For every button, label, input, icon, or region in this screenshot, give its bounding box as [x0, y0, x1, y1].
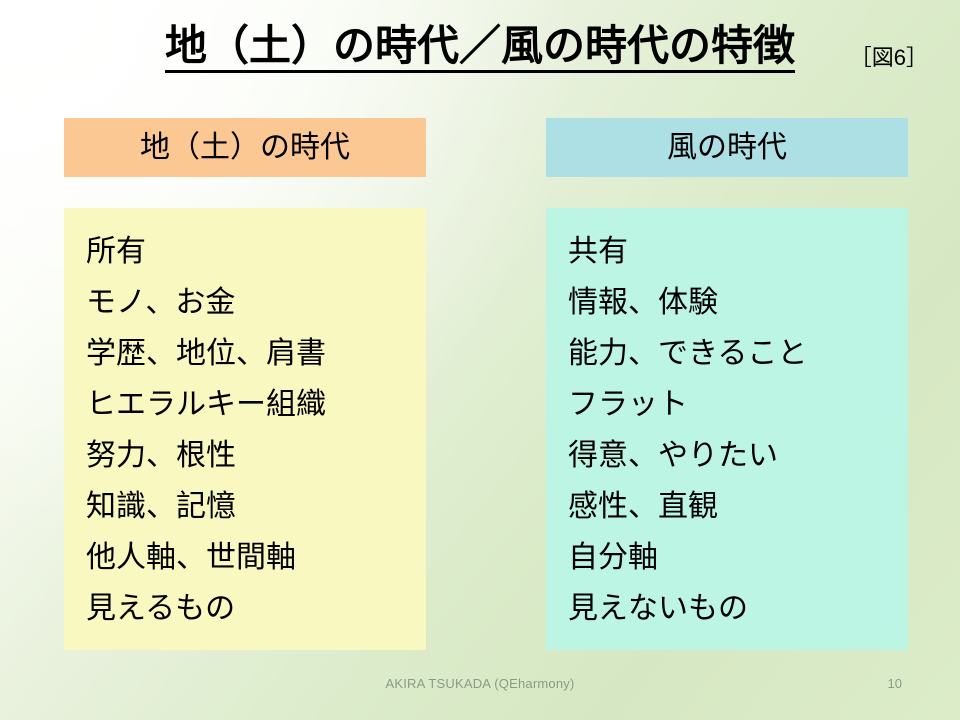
- figure-label: ［図6］: [850, 40, 928, 72]
- column-earth-era: 地（土）の時代 所有 モノ、お金 学歴、地位、肩書 ヒエラルキー組織 努力、根性…: [64, 118, 426, 650]
- item-list-earth-era: 所有 モノ、お金 学歴、地位、肩書 ヒエラルキー組織 努力、根性 知識、記憶 他…: [86, 226, 426, 634]
- list-item: 感性、直観: [568, 481, 908, 532]
- column-header-wind-era: 風の時代: [546, 118, 908, 177]
- column-body-wind-era: 共有 情報、体験 能力、できること フラット 得意、やりたい 感性、直観 自分軸…: [546, 208, 908, 650]
- list-item: ヒエラルキー組織: [86, 379, 426, 430]
- column-wind-era: 風の時代 共有 情報、体験 能力、できること フラット 得意、やりたい 感性、直…: [546, 118, 908, 650]
- list-item: 共有: [568, 226, 908, 277]
- page-title: 地（土）の時代／風の時代の特徴: [165, 24, 795, 73]
- list-item: 情報、体験: [568, 277, 908, 328]
- column-body-earth-era: 所有 モノ、お金 学歴、地位、肩書 ヒエラルキー組織 努力、根性 知識、記憶 他…: [64, 208, 426, 650]
- slide-canvas: 地（土）の時代／風の時代の特徴 ［図6］ 地（土）の時代 所有 モノ、お金 学歴…: [0, 0, 960, 720]
- list-item: 学歴、地位、肩書: [86, 328, 426, 379]
- column-header-earth-era: 地（土）の時代: [64, 118, 426, 177]
- list-item: 見えるもの: [86, 583, 426, 634]
- list-item: 見えないもの: [568, 583, 908, 634]
- list-item: 他人軸、世間軸: [86, 532, 426, 583]
- item-list-wind-era: 共有 情報、体験 能力、できること フラット 得意、やりたい 感性、直観 自分軸…: [568, 226, 908, 634]
- list-item: フラット: [568, 379, 908, 430]
- list-item: 自分軸: [568, 532, 908, 583]
- list-item: 能力、できること: [568, 328, 908, 379]
- list-item: 知識、記憶: [86, 481, 426, 532]
- footer-credit: AKIRA TSUKADA (QEharmony): [0, 676, 960, 691]
- list-item: 得意、やりたい: [568, 430, 908, 481]
- page-number: 10: [888, 676, 902, 691]
- list-item: 所有: [86, 226, 426, 277]
- list-item: モノ、お金: [86, 277, 426, 328]
- list-item: 努力、根性: [86, 430, 426, 481]
- title-container: 地（土）の時代／風の時代の特徴: [0, 24, 960, 73]
